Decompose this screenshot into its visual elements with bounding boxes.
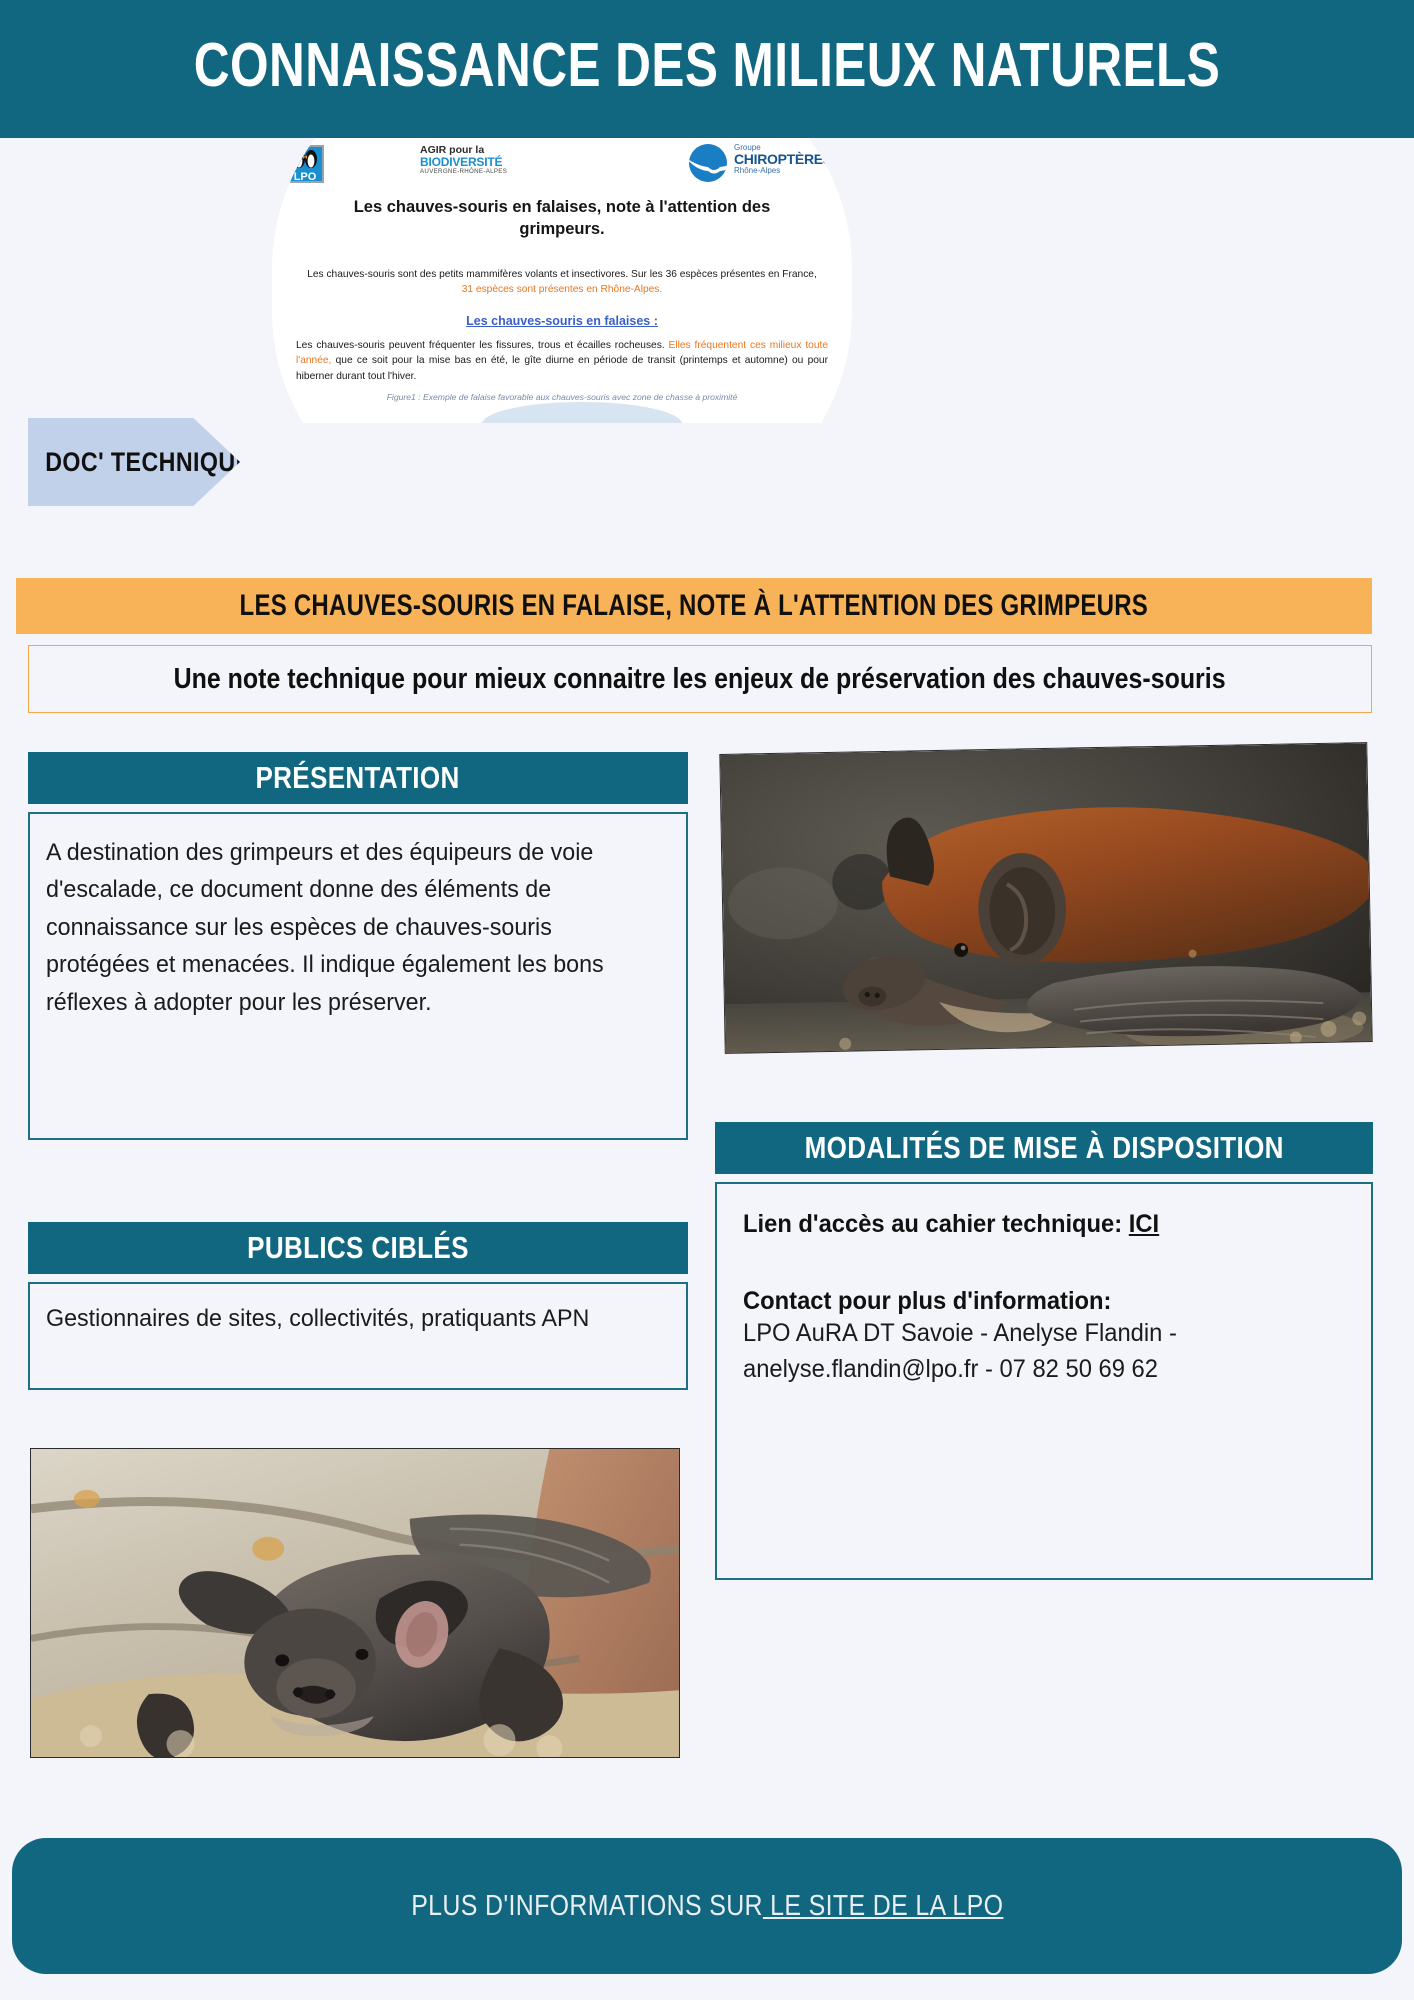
contact-line-2: anelyse.flandin@lpo.fr - 07 82 50 69 62 xyxy=(743,1352,1313,1388)
subtitle-box: Une note technique pour mieux connaitre … xyxy=(28,645,1372,713)
section-header-presentation: PRÉSENTATION xyxy=(28,752,688,804)
section-header-publics-label: PUBLICS CIBLÉS xyxy=(247,1230,469,1266)
modalites-spacer xyxy=(743,1239,1343,1287)
title-band-text: LES CHAUVES-SOURIS EN FALAISE, NOTE À L'… xyxy=(240,589,1148,623)
contact-line-1: LPO AuRA DT Savoie - Anelyse Flandin - xyxy=(743,1316,1313,1352)
section-box-publics-cibles: Gestionnaires de sites, collectivités, p… xyxy=(28,1282,688,1390)
document-thumbnail[interactable]: LPO AGIR pour la BIODIVERSITÉ AUVERGNE-R… xyxy=(272,138,852,423)
thumbnail-body-paragraph: Les chauves-souris peuvent fréquenter le… xyxy=(296,338,828,384)
svg-text:LPO: LPO xyxy=(294,171,317,183)
thumbnail-section-heading: Les chauves-souris en falaises : xyxy=(302,314,822,328)
poster-page: CONNAISSANCE DES MILIEUX NATURELS xyxy=(0,0,1414,2000)
title-band: LES CHAUVES-SOURIS EN FALAISE, NOTE À L'… xyxy=(16,578,1372,634)
thumbnail-content: LPO AGIR pour la BIODIVERSITÉ AUVERGNE-R… xyxy=(272,138,852,423)
doc-technique-label: DOC' TECHNIQUE xyxy=(28,447,252,478)
photo-brown-bat xyxy=(719,742,1372,1054)
photo-grey-bat xyxy=(30,1448,680,1758)
contact-label: Contact pour plus d'information: xyxy=(743,1287,1313,1316)
section-box-modalites: Lien d'accès au cahier technique: ICI Co… xyxy=(715,1182,1373,1580)
section-box-presentation: A destination des grimpeurs et des équip… xyxy=(28,812,688,1140)
chiro-name-text: CHIROPTÈRES xyxy=(734,151,832,167)
brown-bat-illustration xyxy=(720,743,1371,1054)
thumbnail-body-part2: que ce soit pour la mise bas en été, le … xyxy=(296,355,828,381)
publics-body-text: Gestionnaires de sites, collectivités, p… xyxy=(46,1300,635,1337)
thumbnail-body-part1: Les chauves-souris peuvent fréquenter le… xyxy=(296,340,669,351)
footer-link[interactable]: LE SITE DE LA LPO xyxy=(763,1890,1003,1922)
section-header-modalites: MODALITÉS DE MISE À DISPOSITION xyxy=(715,1122,1373,1174)
thumbnail-doc-title: Les chauves-souris en falaises, note à l… xyxy=(312,196,812,241)
thumbnail-intro-highlight: 31 espèces sont présentes en Rhône-Alpes… xyxy=(462,284,662,295)
lpo-region-text: AUVERGNE-RHÔNE-ALPES xyxy=(420,168,507,175)
cahier-technique-link[interactable]: ICI xyxy=(1129,1210,1159,1238)
lpo-logo-icon: LPO xyxy=(286,144,416,184)
footer-text[interactable]: PLUS D'INFORMATIONS SUR LE SITE DE LA LP… xyxy=(411,1890,1003,1923)
cahier-technique-link-row[interactable]: Lien d'accès au cahier technique: ICI xyxy=(743,1210,1313,1239)
subtitle-text: Une note technique pour mieux connaitre … xyxy=(174,663,1226,696)
thumbnail-logos: LPO AGIR pour la BIODIVERSITÉ AUVERGNE-R… xyxy=(272,138,852,188)
section-header-presentation-label: PRÉSENTATION xyxy=(256,760,460,796)
section-header-modalites-label: MODALITÉS DE MISE À DISPOSITION xyxy=(804,1130,1283,1166)
section-header-publics-cibles: PUBLICS CIBLÉS xyxy=(28,1222,688,1274)
footer-prefix: PLUS D'INFORMATIONS SUR xyxy=(411,1890,763,1922)
presentation-body-text: A destination des grimpeurs et des équip… xyxy=(46,834,635,1021)
lpo-bio-text: BIODIVERSITÉ xyxy=(420,155,502,169)
modalites-content: Lien d'accès au cahier technique: ICI Co… xyxy=(743,1210,1343,1387)
grey-bat-illustration xyxy=(31,1449,679,1758)
thumbnail-oval-mask: LPO AGIR pour la BIODIVERSITÉ AUVERGNE-R… xyxy=(272,138,852,423)
cahier-technique-label: Lien d'accès au cahier technique: xyxy=(743,1210,1129,1238)
thumbnail-figure-caption: Figure1 : Exemple de falaise favorable a… xyxy=(302,392,822,402)
page-title: CONNAISSANCE DES MILIEUX NATURELS xyxy=(141,30,1272,101)
thumbnail-intro-part1: Les chauves-souris sont des petits mammi… xyxy=(307,269,817,280)
chiro-region-text: Rhône-Alpes xyxy=(734,166,780,175)
thumbnail-intro-paragraph: Les chauves-souris sont des petits mammi… xyxy=(302,268,822,298)
doc-technique-badge: DOC' TECHNIQUE xyxy=(28,418,240,506)
footer-band: PLUS D'INFORMATIONS SUR LE SITE DE LA LP… xyxy=(12,1838,1402,1974)
